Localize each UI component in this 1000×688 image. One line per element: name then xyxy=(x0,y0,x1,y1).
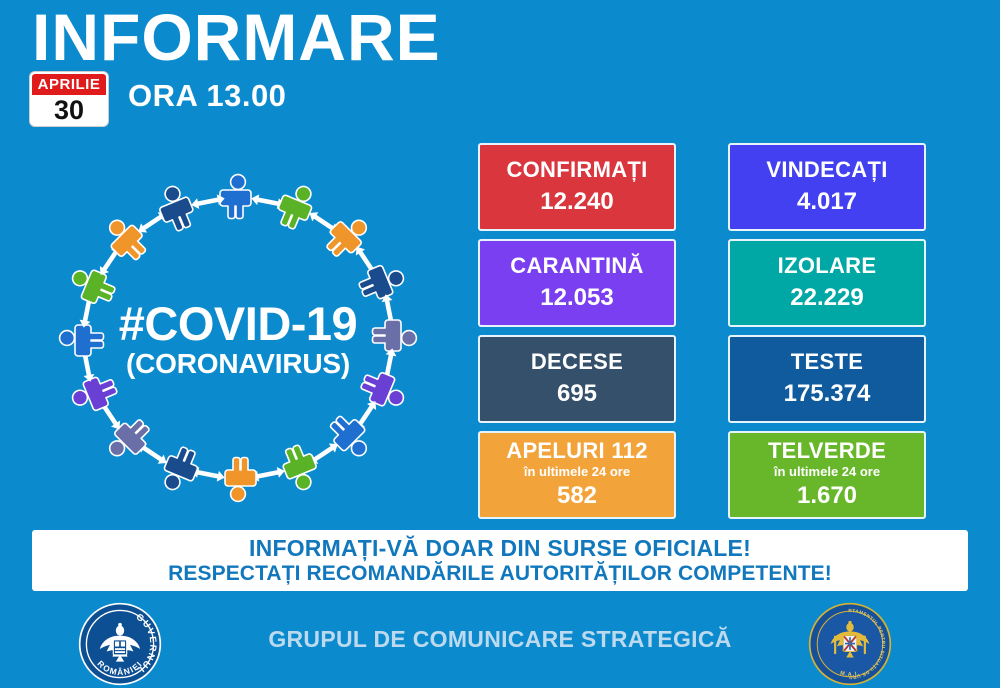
calendar-month-label: APRILIE xyxy=(32,74,106,95)
stat-label: TELVERDE xyxy=(768,439,886,463)
person-figure xyxy=(99,213,152,266)
stat-label: VINDECAȚI xyxy=(766,158,887,182)
calendar-day-label: 30 xyxy=(32,95,106,126)
stat-value: 22.229 xyxy=(790,284,863,313)
stat-value: 12.053 xyxy=(540,284,613,313)
person-figure xyxy=(153,182,198,234)
person-figure xyxy=(373,320,417,351)
time-label: ORA 13.00 xyxy=(128,78,286,114)
stat-card-confirma-i: CONFIRMAȚI12.240 xyxy=(478,143,676,231)
person-figure xyxy=(66,263,118,308)
stat-card-carantin: CARANTINĂ12.053 xyxy=(478,239,676,327)
stat-label: APELURI 112 xyxy=(506,439,647,463)
banner-line-2: RESPECTAȚI RECOMANDĂRILE AUTORITĂȚILOR C… xyxy=(168,562,832,586)
stat-value: 695 xyxy=(557,380,597,409)
stat-value: 12.240 xyxy=(540,188,613,217)
person-figure xyxy=(220,175,251,219)
calendar-icon: APRILIE 30 xyxy=(30,72,108,126)
person-figure xyxy=(103,413,156,466)
official-sources-banner: INFORMAȚI-VĂ DOAR DIN SURSE OFICIALE! RE… xyxy=(32,530,968,591)
stat-label: DECESE xyxy=(531,350,623,374)
stat-value: 1.670 xyxy=(797,482,857,511)
covid-people-circle-graphic: #COVID-19 (CORONAVIRUS) xyxy=(28,160,448,520)
page-title: INFORMARE xyxy=(32,4,441,70)
person-figure xyxy=(68,372,120,417)
stat-label: CARANTINĂ xyxy=(510,254,643,278)
stat-value: 582 xyxy=(557,482,597,511)
stat-value: 175.374 xyxy=(784,380,871,409)
stat-card-izolare: IZOLARE22.229 xyxy=(728,239,926,327)
person-figure xyxy=(273,180,318,232)
person-figure xyxy=(60,325,104,356)
footer: GUVERNUL ROMÂNIEI GRUPUL DE COMUNICARE S… xyxy=(0,598,1000,688)
stat-label: CONFIRMAȚI xyxy=(506,158,647,182)
dsu-mai-emblem: DEPARTAMENTUL PENTRU SITUAȚII DE URGENȚĂ… xyxy=(808,602,892,686)
stat-card-vindeca-i: VINDECAȚI4.017 xyxy=(728,143,926,231)
stat-card-apeluri-112: APELURI 112în ultimele 24 ore582 xyxy=(478,431,676,519)
person-figure xyxy=(355,259,407,304)
person-figure xyxy=(320,210,373,263)
stat-value: 4.017 xyxy=(797,188,857,217)
person-figure xyxy=(158,443,203,495)
stat-label: TESTE xyxy=(791,350,863,374)
stat-sublabel: în ultimele 24 ore xyxy=(774,464,880,480)
person-figure xyxy=(324,410,377,463)
stat-card-teste: TESTE175.374 xyxy=(728,335,926,423)
stat-card-telverde: TELVERDEîn ultimele 24 ore1.670 xyxy=(728,431,926,519)
stat-card-decese: DECESE695 xyxy=(478,335,676,423)
header: INFORMARE APRILIE 30 ORA 13.00 xyxy=(0,0,1000,140)
people-circle-icon xyxy=(28,160,448,520)
person-figure xyxy=(357,367,409,412)
stat-sublabel: în ultimele 24 ore xyxy=(524,464,630,480)
person-figure xyxy=(277,442,322,494)
statistics-grid: CONFIRMAȚI12.240VINDECAȚI4.017CARANTINĂ1… xyxy=(478,143,978,521)
person-figure xyxy=(225,458,256,502)
banner-line-1: INFORMAȚI-VĂ DOAR DIN SURSE OFICIALE! xyxy=(249,535,751,561)
stat-label: IZOLARE xyxy=(778,254,877,278)
